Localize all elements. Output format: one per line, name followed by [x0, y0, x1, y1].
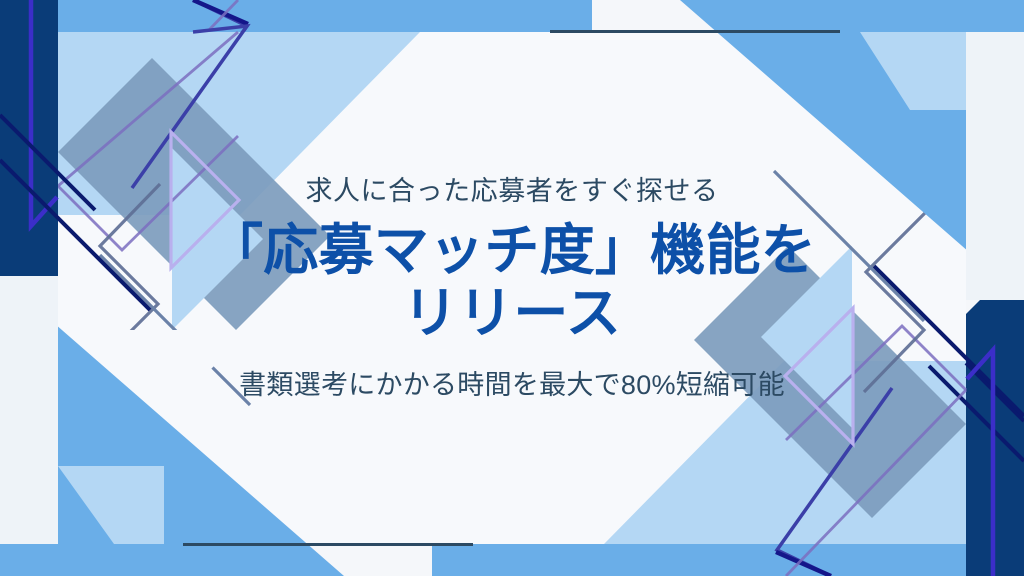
page-title: 「応募マッチ度」機能を リリース — [208, 219, 816, 344]
subtitle-text: 書類選考にかかる時間を最大で80%短縮可能 — [239, 367, 785, 403]
slide-content: 求人に合った応募者をすぐ探せる 「応募マッチ度」機能を リリース 書類選考にかか… — [0, 0, 1024, 576]
eyebrow-text: 求人に合った応募者をすぐ探せる — [305, 173, 718, 209]
slide-canvas: 求人に合った応募者をすぐ探せる 「応募マッチ度」機能を リリース 書類選考にかか… — [0, 0, 1024, 576]
